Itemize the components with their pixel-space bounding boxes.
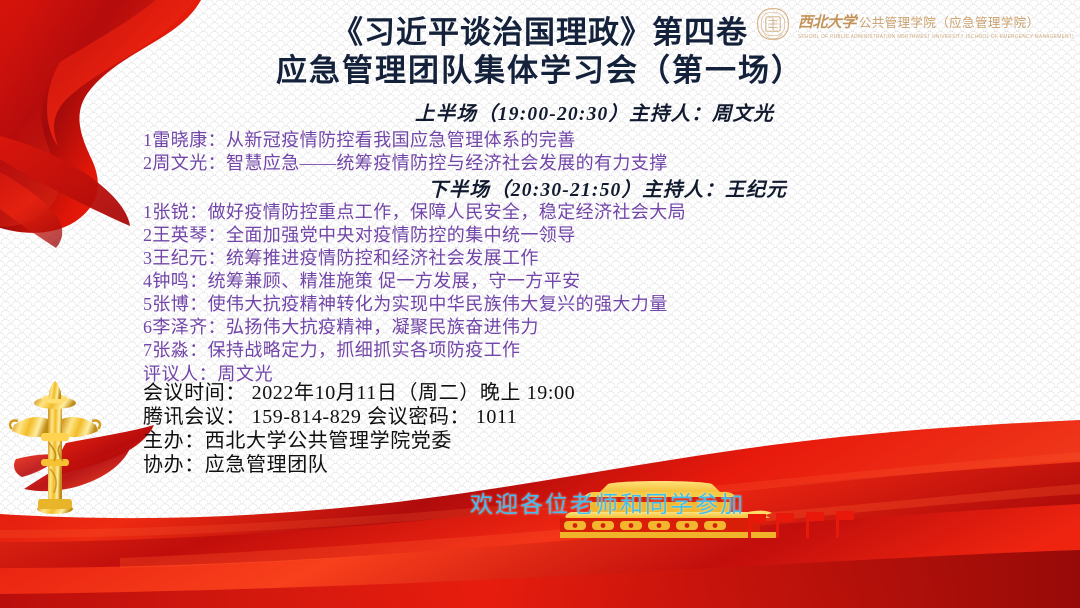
agenda-item: 2王英琴：全面加强党中央对疫情防控的集中统一领导	[143, 224, 576, 247]
agenda-item: 7张淼：保持战略定力，抓细抓实各项防疫工作	[143, 339, 520, 362]
agenda-item: 1张锐：做好疫情防控重点工作，保障人民安全，稳定经济社会大局	[143, 201, 686, 224]
session-header-first-half: 上半场（19:00-20:30）主持人：周文光	[415, 97, 774, 126]
detail-meeting-id: 腾讯会议： 159-814-829 会议密码： 1011	[143, 405, 517, 430]
agenda-item: 1雷晓康：从新冠疫情防控看我国应急管理体系的完善	[143, 129, 576, 152]
logo-university-name: 西北大学	[798, 11, 856, 32]
welcome-message: 欢迎各位老师和同学参加	[470, 485, 745, 519]
agenda-item: 4钟鸣：统筹兼顾、精准施策 促一方发展，守一方平安	[143, 270, 581, 293]
detail-co-organizer: 协办：应急管理团队	[143, 453, 328, 478]
agenda-item: 5张博：使伟大抗疫精神转化为实现中华民族伟大复兴的强大力量	[143, 293, 668, 316]
university-seal-icon	[755, 6, 791, 42]
agenda-item: 2周文光：智慧应急——统筹疫情防控与经济社会发展的有力支撑	[143, 152, 668, 175]
agenda-item: 3王纪元：统筹推进疫情防控和经济社会发展工作	[143, 247, 539, 270]
detail-organizer: 主办：西北大学公共管理学院党委	[143, 429, 452, 454]
logo-school-name: 公共管理学院（应急管理学院）	[859, 12, 1040, 31]
agenda-item: 6李泽齐：弘扬伟大抗疫精神，凝聚民族奋进伟力	[143, 316, 539, 339]
slide-canvas: 西北大学 公共管理学院（应急管理学院） SCHOOL OF PUBLIC ADM…	[0, 0, 1080, 608]
university-logo: 西北大学 公共管理学院（应急管理学院） SCHOOL OF PUBLIC ADM…	[755, 6, 1074, 42]
logo-english-name: SCHOOL OF PUBLIC ADMINISTRATION NORTHWES…	[798, 33, 1074, 39]
detail-meeting-time: 会议时间： 2022年10月11日（周二）晚上 19:00	[143, 381, 575, 406]
session-header-second-half: 下半场（20:30-21:50）主持人：王纪元	[428, 173, 787, 202]
